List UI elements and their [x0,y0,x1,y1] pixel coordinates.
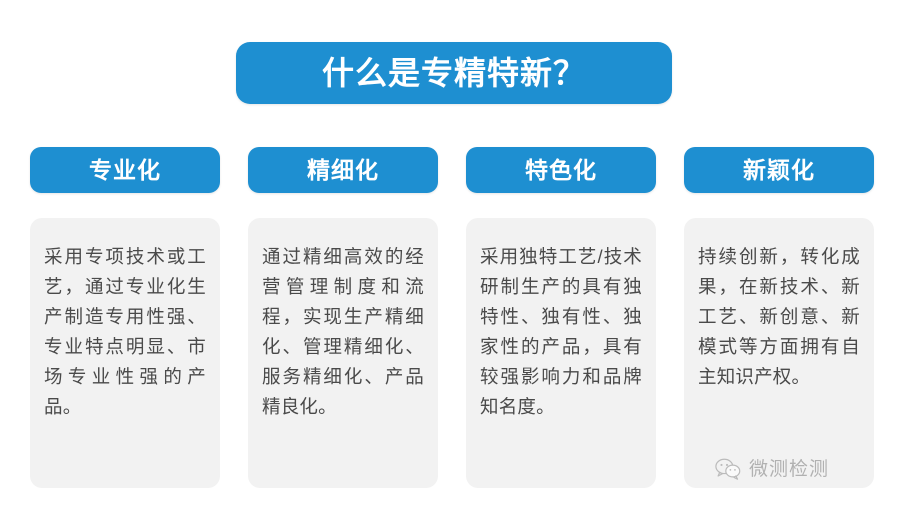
pill-label: 特色化 [525,159,597,182]
pill-label: 专业化 [89,159,161,182]
card-refinement: 通过精细高效的经营管理制度和流程，实现生产精细化、管理精细化、服务精细化、产品精… [248,218,438,488]
title-banner: 什么是专精特新？ [236,42,672,104]
card-body-text: 采用专项技术或工艺，通过专业化生产制造专用性强、专业特点明显、市场专业性强的产品… [44,242,206,422]
column-novelty: 新颖化 持续创新，转化成果，在新技术、新工艺、新创意、新模式等方面拥有自主知识产… [684,147,874,492]
pill-novelty: 新颖化 [684,147,874,193]
pill-refinement: 精细化 [248,147,438,193]
pill-label: 精细化 [307,159,379,182]
pill-specialization: 专业化 [30,147,220,193]
infographic-page: 什么是专精特新？ 专业化 采用专项技术或工艺，通过专业化生产制造专用性强、专业特… [0,0,900,509]
page-title: 什么是专精特新？ [322,57,586,89]
column-specialization: 专业化 采用专项技术或工艺，通过专业化生产制造专用性强、专业特点明显、市场专业性… [30,147,220,492]
pill-distinctiveness: 特色化 [466,147,656,193]
column-refinement: 精细化 通过精细高效的经营管理制度和流程，实现生产精细化、管理精细化、服务精细化… [248,147,438,492]
card-novelty: 持续创新，转化成果，在新技术、新工艺、新创意、新模式等方面拥有自主知识产权。 [684,218,874,488]
card-specialization: 采用专项技术或工艺，通过专业化生产制造专用性强、专业特点明显、市场专业性强的产品… [30,218,220,488]
watermark-label: 微测检测 [749,460,829,479]
card-body-text: 采用独特工艺/技术研制生产的具有独特性、独有性、独家性的产品，具有较强影响力和品… [480,242,642,422]
card-distinctiveness: 采用独特工艺/技术研制生产的具有独特性、独有性、独家性的产品，具有较强影响力和品… [466,218,656,488]
wechat-icon [715,458,741,480]
pill-label: 新颖化 [743,159,815,182]
columns-container: 专业化 采用专项技术或工艺，通过专业化生产制造专用性强、专业特点明显、市场专业性… [30,147,876,492]
card-body-text: 持续创新，转化成果，在新技术、新工艺、新创意、新模式等方面拥有自主知识产权。 [698,242,860,392]
card-body-text: 通过精细高效的经营管理制度和流程，实现生产精细化、管理精细化、服务精细化、产品精… [262,242,424,422]
column-distinctiveness: 特色化 采用独特工艺/技术研制生产的具有独特性、独有性、独家性的产品，具有较强影… [466,147,656,492]
watermark: 微测检测 [715,458,829,480]
